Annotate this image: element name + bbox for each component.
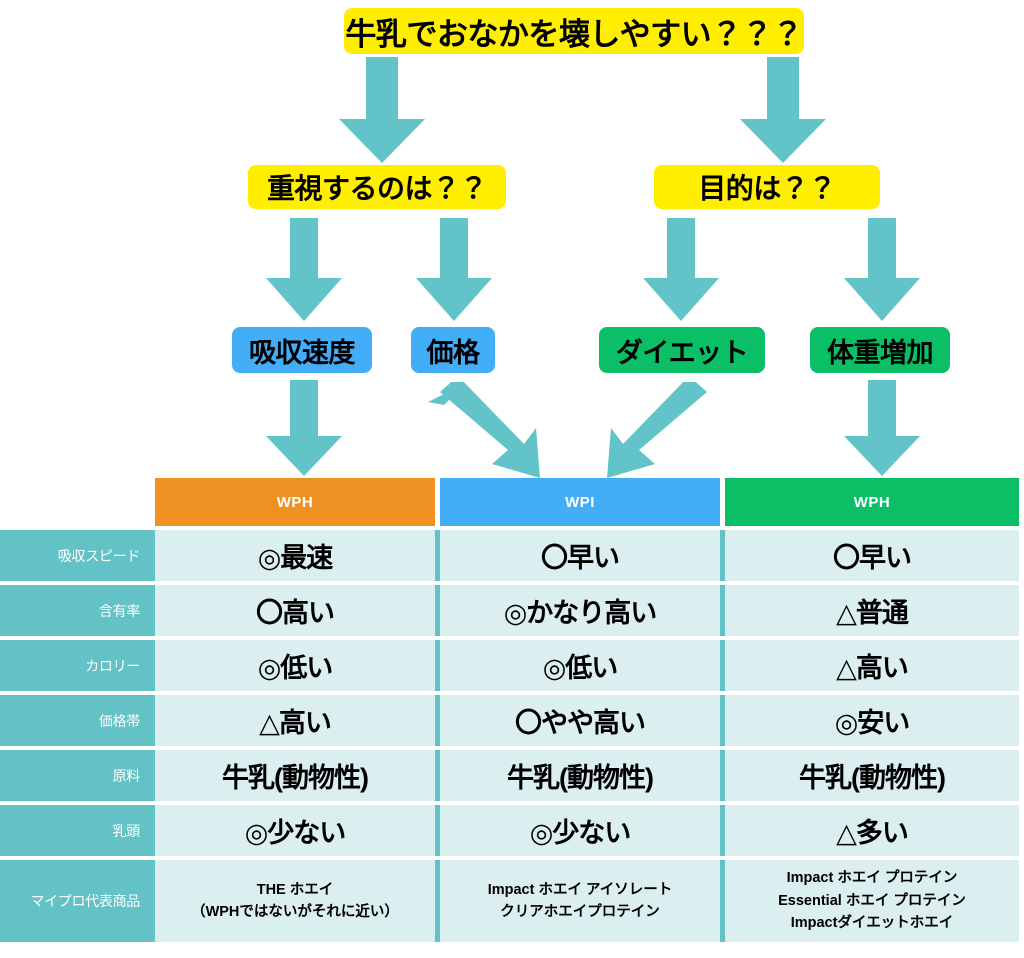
option-box-diet[interactable]: ダイエット (599, 327, 765, 373)
cell-calorie-wpi: ◎低い (440, 640, 720, 691)
cell-calorie-wph2: △高い (725, 640, 1019, 691)
column-header-wph-2: WPH (725, 478, 1019, 526)
flowchart: 牛乳でおなかを壊しやすい？？？ 重視するのは？？ 目的は？？ 吸収速度 価格 ダ… (0, 0, 1024, 478)
cell-lactose-wph2: △多い (725, 805, 1019, 856)
comparison-table: WPH WPI WPH 吸収スピード ◎最速 〇早い 〇早い 含有率 〇高い ◎… (0, 478, 1024, 942)
arrow-q2-to-diet (641, 218, 721, 323)
row-label-representative-products: マイプロ代表商品 (0, 860, 150, 942)
question-box-purpose[interactable]: 目的は？？ (654, 165, 880, 209)
row-label-ingredient: 原料 (0, 750, 150, 801)
row-label-price-range: 価格帯 (0, 695, 150, 746)
cell-content-rate-wpi: ◎かなり高い (440, 585, 720, 636)
column-header-wph-1: WPH (155, 478, 435, 526)
cell-content-rate-wph2: △普通 (725, 585, 1019, 636)
row-label-absorption-speed: 吸収スピード (0, 530, 150, 581)
cell-absorption-speed-wph1: ◎最速 (155, 530, 435, 581)
cell-absorption-speed-wph2: 〇早い (725, 530, 1019, 581)
option-box-absorption-speed[interactable]: 吸収速度 (232, 327, 372, 373)
cell-price-range-wph2: ◎安い (725, 695, 1019, 746)
cell-products-wph2: Impact ホエイ プロテイン Essential ホエイ プロテイン Imp… (725, 860, 1019, 942)
row-label-content-rate: 含有率 (0, 585, 150, 636)
product-line: Impactダイエットホエイ (778, 912, 966, 934)
arrow-speed-to-wph (264, 380, 344, 478)
product-line: Impact ホエイ アイソレート (488, 879, 673, 901)
cell-price-range-wpi: 〇やや高い (440, 695, 720, 746)
product-line: Impact ホエイ プロテイン (778, 867, 966, 889)
product-line: Essential ホエイ プロテイン (778, 890, 966, 912)
cell-ingredient-wpi: 牛乳(動物性) (440, 750, 720, 801)
arrow-q1-to-price (414, 218, 494, 323)
cell-lactose-wpi: ◎少ない (440, 805, 720, 856)
root-question-box[interactable]: 牛乳でおなかを壊しやすい？？？ (344, 8, 804, 54)
arrow-q1-to-speed (264, 218, 344, 323)
arrow-weight-to-wph (842, 380, 922, 478)
arrow-diet-to-wpi (604, 382, 719, 480)
arrow-root-to-q1 (337, 57, 427, 165)
option-box-price[interactable]: 価格 (411, 327, 495, 373)
cell-calorie-wph1: ◎低い (155, 640, 435, 691)
question-box-priority[interactable]: 重視するのは？？ (248, 165, 506, 209)
table-header-corner (0, 478, 150, 526)
arrow-root-to-q2 (738, 57, 828, 165)
option-box-weight-gain[interactable]: 体重増加 (810, 327, 950, 373)
arrow-price-to-wpi (428, 382, 543, 480)
cell-ingredient-wph2: 牛乳(動物性) (725, 750, 1019, 801)
cell-ingredient-wph1: 牛乳(動物性) (155, 750, 435, 801)
cell-products-wph1: THE ホエイ （WPHではないがそれに近い） (155, 860, 435, 942)
arrow-q2-to-weight (842, 218, 922, 323)
cell-lactose-wph1: ◎少ない (155, 805, 435, 856)
row-label-lactose: 乳頭 (0, 805, 150, 856)
cell-price-range-wph1: △高い (155, 695, 435, 746)
cell-products-wpi: Impact ホエイ アイソレート クリアホエイプロテイン (440, 860, 720, 942)
product-line: THE ホエイ (191, 879, 399, 901)
product-line: （WPHではないがそれに近い） (191, 901, 399, 923)
product-line: クリアホエイプロテイン (488, 901, 673, 923)
column-header-wpi: WPI (440, 478, 720, 526)
row-label-calorie: カロリー (0, 640, 150, 691)
cell-content-rate-wph1: 〇高い (155, 585, 435, 636)
cell-absorption-speed-wpi: 〇早い (440, 530, 720, 581)
